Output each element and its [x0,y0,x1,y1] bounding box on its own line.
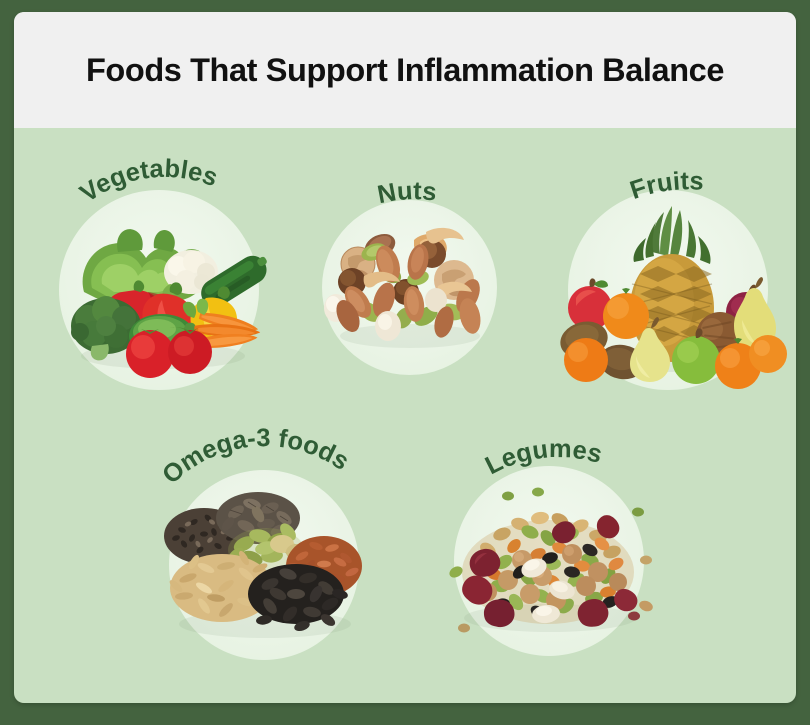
nuts-icon [318,204,503,364]
group-fruits[interactable]: Fruits [548,142,778,392]
group-nuts[interactable]: Nuts [308,152,508,392]
legumes-icon [442,468,657,648]
group-vegetables[interactable]: Vegetables [44,142,264,392]
group-omega3[interactable]: Omega-3 foods [142,412,382,667]
vegetables-icon [58,196,268,386]
seeds-icon [160,474,370,654]
page-title: Foods That Support Inflammation Balance [72,52,738,89]
poster-frame: Foods That Support Inflammation Balance … [0,0,810,725]
poster-card: Foods That Support Inflammation Balance … [14,12,796,703]
group-legumes[interactable]: Legumes [432,408,662,663]
header-bar: Foods That Support Inflammation Balance [14,12,796,128]
fruits-icon [560,194,775,384]
